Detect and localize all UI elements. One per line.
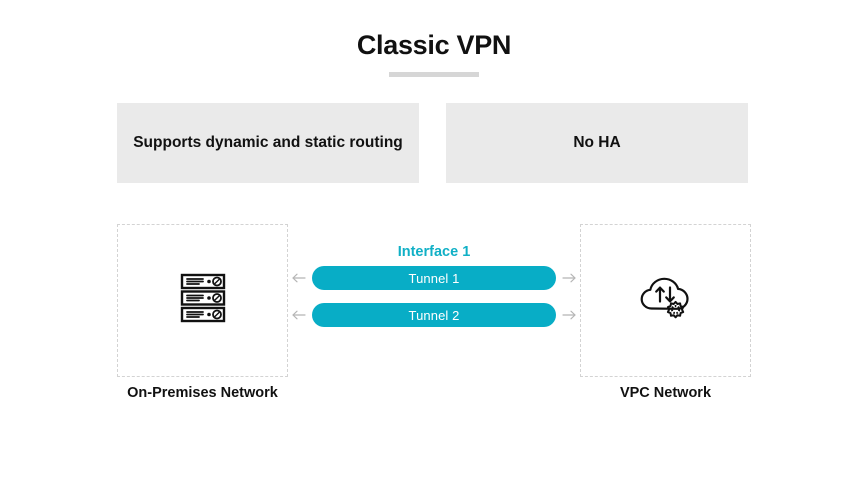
tunnel-label-2: Tunnel 2 bbox=[409, 308, 460, 323]
interface-group: Interface 1 Tunnel 1 Tunnel 2 bbox=[292, 244, 576, 340]
arrow-left-icon bbox=[292, 308, 306, 322]
title-underline-rule bbox=[389, 72, 479, 77]
zone-label-on-premises: On-Premises Network bbox=[117, 384, 288, 404]
tunnel-label-1: Tunnel 1 bbox=[409, 271, 460, 286]
tunnel-bar-2[interactable]: Tunnel 2 bbox=[312, 303, 556, 327]
arrow-left-icon bbox=[292, 271, 306, 285]
arrow-right-icon bbox=[562, 271, 576, 285]
feature-box-ha: No HA bbox=[446, 103, 748, 183]
tunnel-row: Tunnel 1 bbox=[292, 266, 576, 290]
feature-box-routing-label: Supports dynamic and static routing bbox=[119, 133, 417, 154]
interface-label: Interface 1 bbox=[292, 244, 576, 260]
server-rack-icon bbox=[179, 272, 227, 329]
feature-box-routing: Supports dynamic and static routing bbox=[117, 103, 419, 183]
tunnel-bar-1[interactable]: Tunnel 1 bbox=[312, 266, 556, 290]
arrow-right-icon bbox=[562, 308, 576, 322]
page-title: Classic VPN bbox=[0, 30, 868, 61]
feature-box-ha-label: No HA bbox=[559, 133, 634, 154]
cloud-sync-gear-icon bbox=[635, 270, 697, 331]
tunnel-row: Tunnel 2 bbox=[292, 303, 576, 327]
feature-box-group: Supports dynamic and static routing No H… bbox=[117, 103, 748, 183]
zone-vpc bbox=[580, 224, 751, 377]
zone-on-premises bbox=[117, 224, 288, 377]
zone-label-vpc: VPC Network bbox=[580, 384, 751, 404]
